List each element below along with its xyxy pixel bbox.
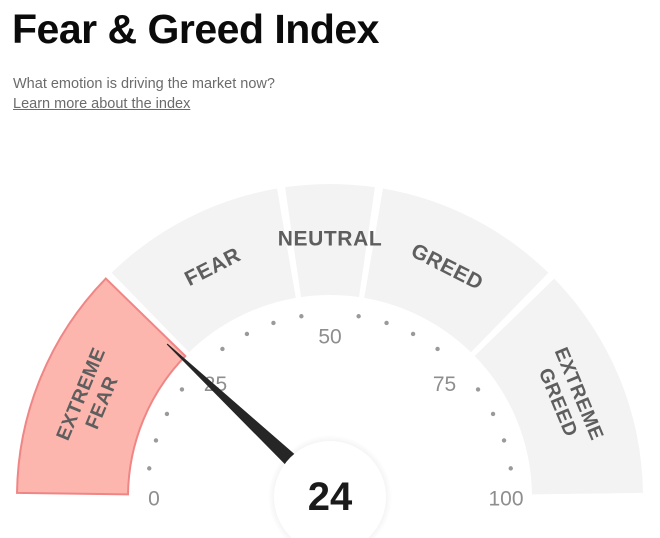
- tick-dot: [245, 332, 249, 336]
- tick-dot: [411, 332, 415, 336]
- tick-dot: [435, 347, 439, 351]
- fear-greed-index-page: Fear & Greed Index What emotion is drivi…: [0, 0, 660, 538]
- tick-dot: [509, 466, 513, 470]
- gauge-value: 24: [308, 475, 353, 519]
- scale-label-50: 50: [318, 326, 341, 349]
- tick-dot: [502, 438, 506, 442]
- scale-label-75: 75: [433, 373, 456, 396]
- learn-more-link[interactable]: Learn more about the index: [13, 95, 190, 113]
- tick-dot: [356, 314, 360, 318]
- tick-dot: [299, 314, 303, 318]
- scale-label-0: 0: [148, 488, 160, 511]
- fear-greed-gauge: 0255075100 EXTREMEFEARFEARNEUTRALGREEDEX…: [0, 118, 660, 538]
- tick-dot: [491, 412, 495, 416]
- page-subtitle: What emotion is driving the market now?: [13, 75, 275, 93]
- tick-dot: [154, 438, 158, 442]
- tick-dot: [147, 466, 151, 470]
- scale-label-100: 100: [488, 488, 523, 511]
- tick-dot: [271, 321, 275, 325]
- tick-dot: [220, 347, 224, 351]
- tick-dot: [476, 387, 480, 391]
- tick-dot: [180, 387, 184, 391]
- tick-dot: [384, 321, 388, 325]
- page-title: Fear & Greed Index: [12, 4, 379, 54]
- segment-label-neutral: NEUTRAL: [278, 228, 383, 251]
- tick-dot: [165, 412, 169, 416]
- gauge-svg: 0255075100 EXTREMEFEARFEARNEUTRALGREEDEX…: [0, 118, 660, 538]
